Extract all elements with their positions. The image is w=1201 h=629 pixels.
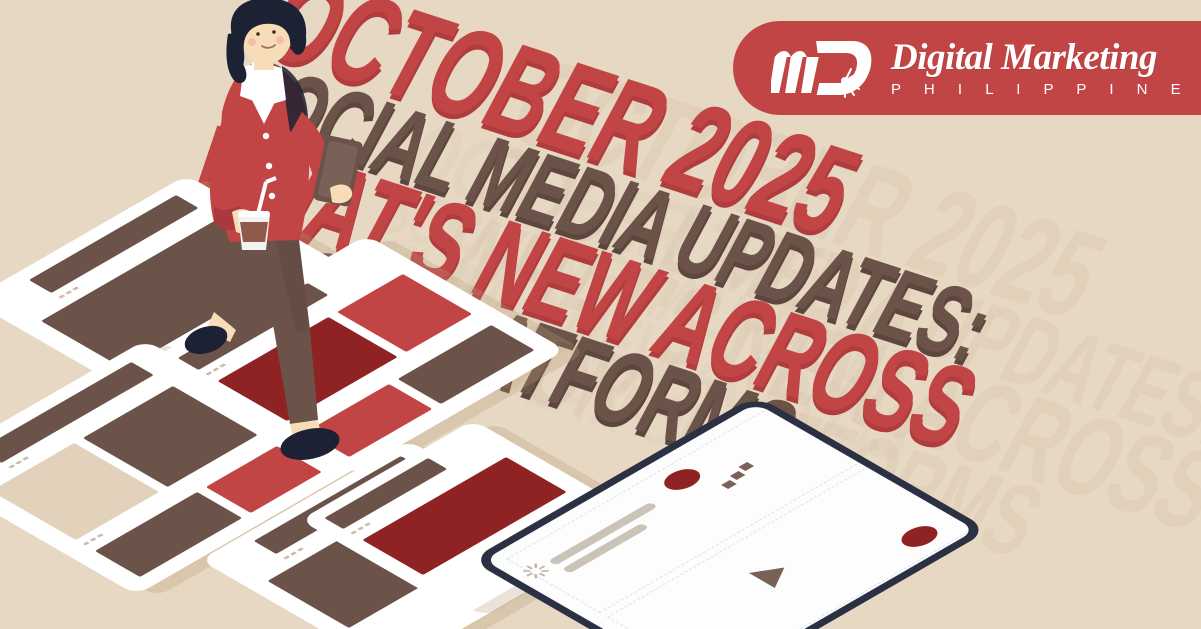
- brand-country: P H I L I P P I N E S: [891, 81, 1201, 98]
- md-monogram-icon: [771, 37, 881, 99]
- tablet-screen: [484, 403, 976, 629]
- brand-logo[interactable]: Digital Marketing P H I L I P P I N E S: [733, 21, 1201, 115]
- brand-name: Digital Marketing: [891, 39, 1201, 76]
- poster-canvas: OCTOBER 2025 SOCIAL MEDIA UPDATES: WHAT'…: [0, 0, 1201, 629]
- watermark2-line-2: SOCIAL MEDIA UPDATES:: [459, 133, 1171, 432]
- woman-illustration: [170, 0, 380, 460]
- card-dots: [350, 522, 372, 534]
- card-dots: [283, 547, 305, 559]
- card-dots: [58, 286, 80, 298]
- loading-spark-icon: [226, 546, 271, 572]
- card-dots: [83, 533, 105, 545]
- loading-spark-icon: [1, 287, 46, 313]
- brand-text: Digital Marketing P H I L I P P I N E S: [891, 39, 1201, 98]
- card-dots: [8, 456, 30, 468]
